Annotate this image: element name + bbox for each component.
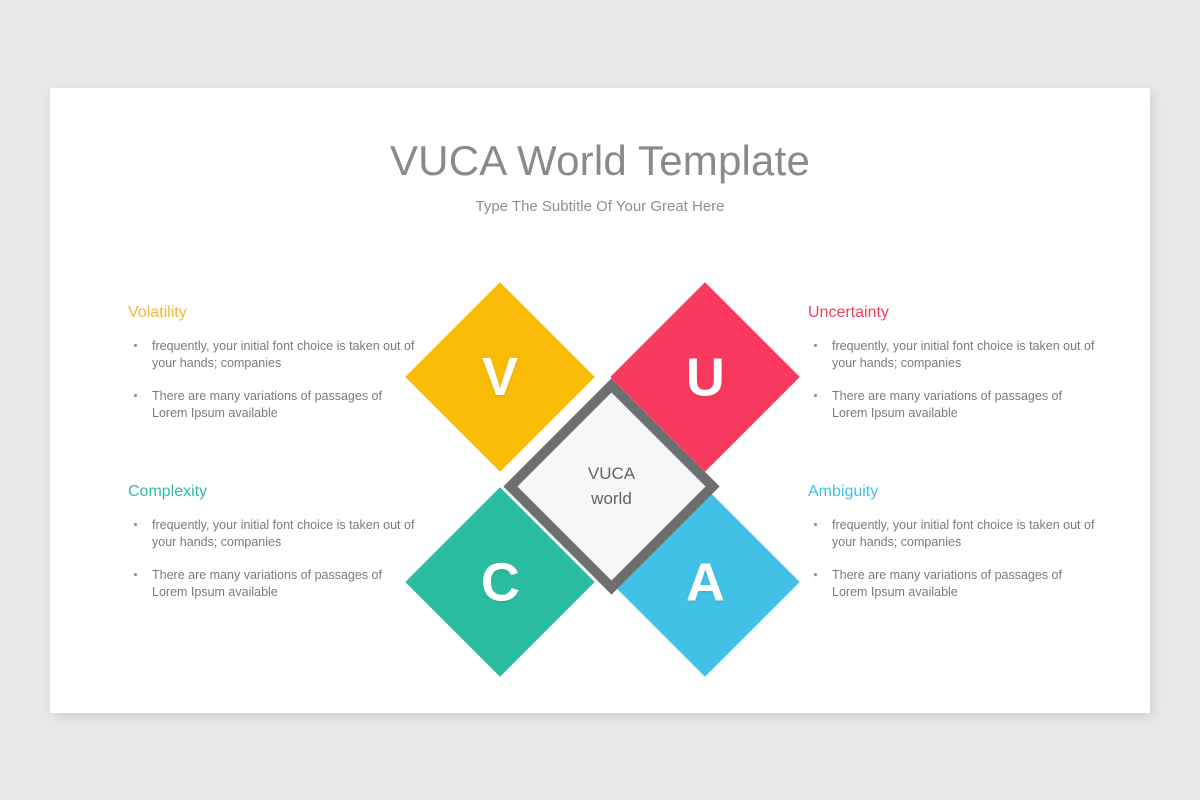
diamond-center-label: VUCA world (588, 462, 635, 511)
list-item-text: frequently, your initial font choice is … (832, 339, 1094, 370)
bullet-list-volatility: frequently, your initial font choice is … (128, 338, 418, 421)
page-title: VUCA World Template (50, 137, 1150, 185)
diamond-letter-c: C (481, 555, 520, 609)
page-subtitle: Type The Subtitle Of Your Great Here (50, 198, 1150, 215)
diamond-letter-a: A (686, 555, 725, 609)
list-item-text: There are many variations of passages of… (152, 568, 382, 599)
list-item: frequently, your initial font choice is … (808, 517, 1098, 550)
bullet-dot-icon (814, 344, 817, 347)
list-item-text: There are many variations of passages of… (832, 568, 1062, 599)
text-block-complexity: Complexity frequently, your initial font… (128, 482, 418, 600)
bullet-dot-icon (134, 523, 137, 526)
bullet-dot-icon (814, 394, 817, 397)
list-item: frequently, your initial font choice is … (808, 338, 1098, 371)
slide-card: VUCA World Template Type The Subtitle Of… (50, 88, 1150, 713)
list-item: frequently, your initial font choice is … (128, 338, 418, 371)
list-item-text: frequently, your initial font choice is … (152, 518, 414, 549)
vuca-diagram: V U C A VUCA world (405, 282, 800, 642)
text-block-volatility: Volatility frequently, your initial font… (128, 303, 418, 421)
heading-ambiguity: Ambiguity (808, 482, 1098, 501)
bullet-dot-icon (134, 573, 137, 576)
heading-volatility: Volatility (128, 303, 418, 322)
list-item: There are many variations of passages of… (808, 388, 1098, 421)
bullet-dot-icon (134, 344, 137, 347)
text-block-ambiguity: Ambiguity frequently, your initial font … (808, 482, 1098, 600)
bullet-dot-icon (134, 394, 137, 397)
list-item: There are many variations of passages of… (128, 388, 418, 421)
list-item-text: There are many variations of passages of… (152, 389, 382, 420)
text-block-uncertainty: Uncertainty frequently, your initial fon… (808, 303, 1098, 421)
bullet-dot-icon (814, 523, 817, 526)
diamond-letter-v: V (482, 350, 518, 404)
bullet-dot-icon (814, 573, 817, 576)
diamond-letter-u: U (686, 350, 725, 404)
heading-uncertainty: Uncertainty (808, 303, 1098, 322)
list-item-text: There are many variations of passages of… (832, 389, 1062, 420)
list-item: There are many variations of passages of… (128, 567, 418, 600)
list-item-text: frequently, your initial font choice is … (152, 339, 414, 370)
list-item-text: frequently, your initial font choice is … (832, 518, 1094, 549)
heading-complexity: Complexity (128, 482, 418, 501)
list-item: frequently, your initial font choice is … (128, 517, 418, 550)
bullet-list-complexity: frequently, your initial font choice is … (128, 517, 418, 600)
bullet-list-ambiguity: frequently, your initial font choice is … (808, 517, 1098, 600)
list-item: There are many variations of passages of… (808, 567, 1098, 600)
bullet-list-uncertainty: frequently, your initial font choice is … (808, 338, 1098, 421)
